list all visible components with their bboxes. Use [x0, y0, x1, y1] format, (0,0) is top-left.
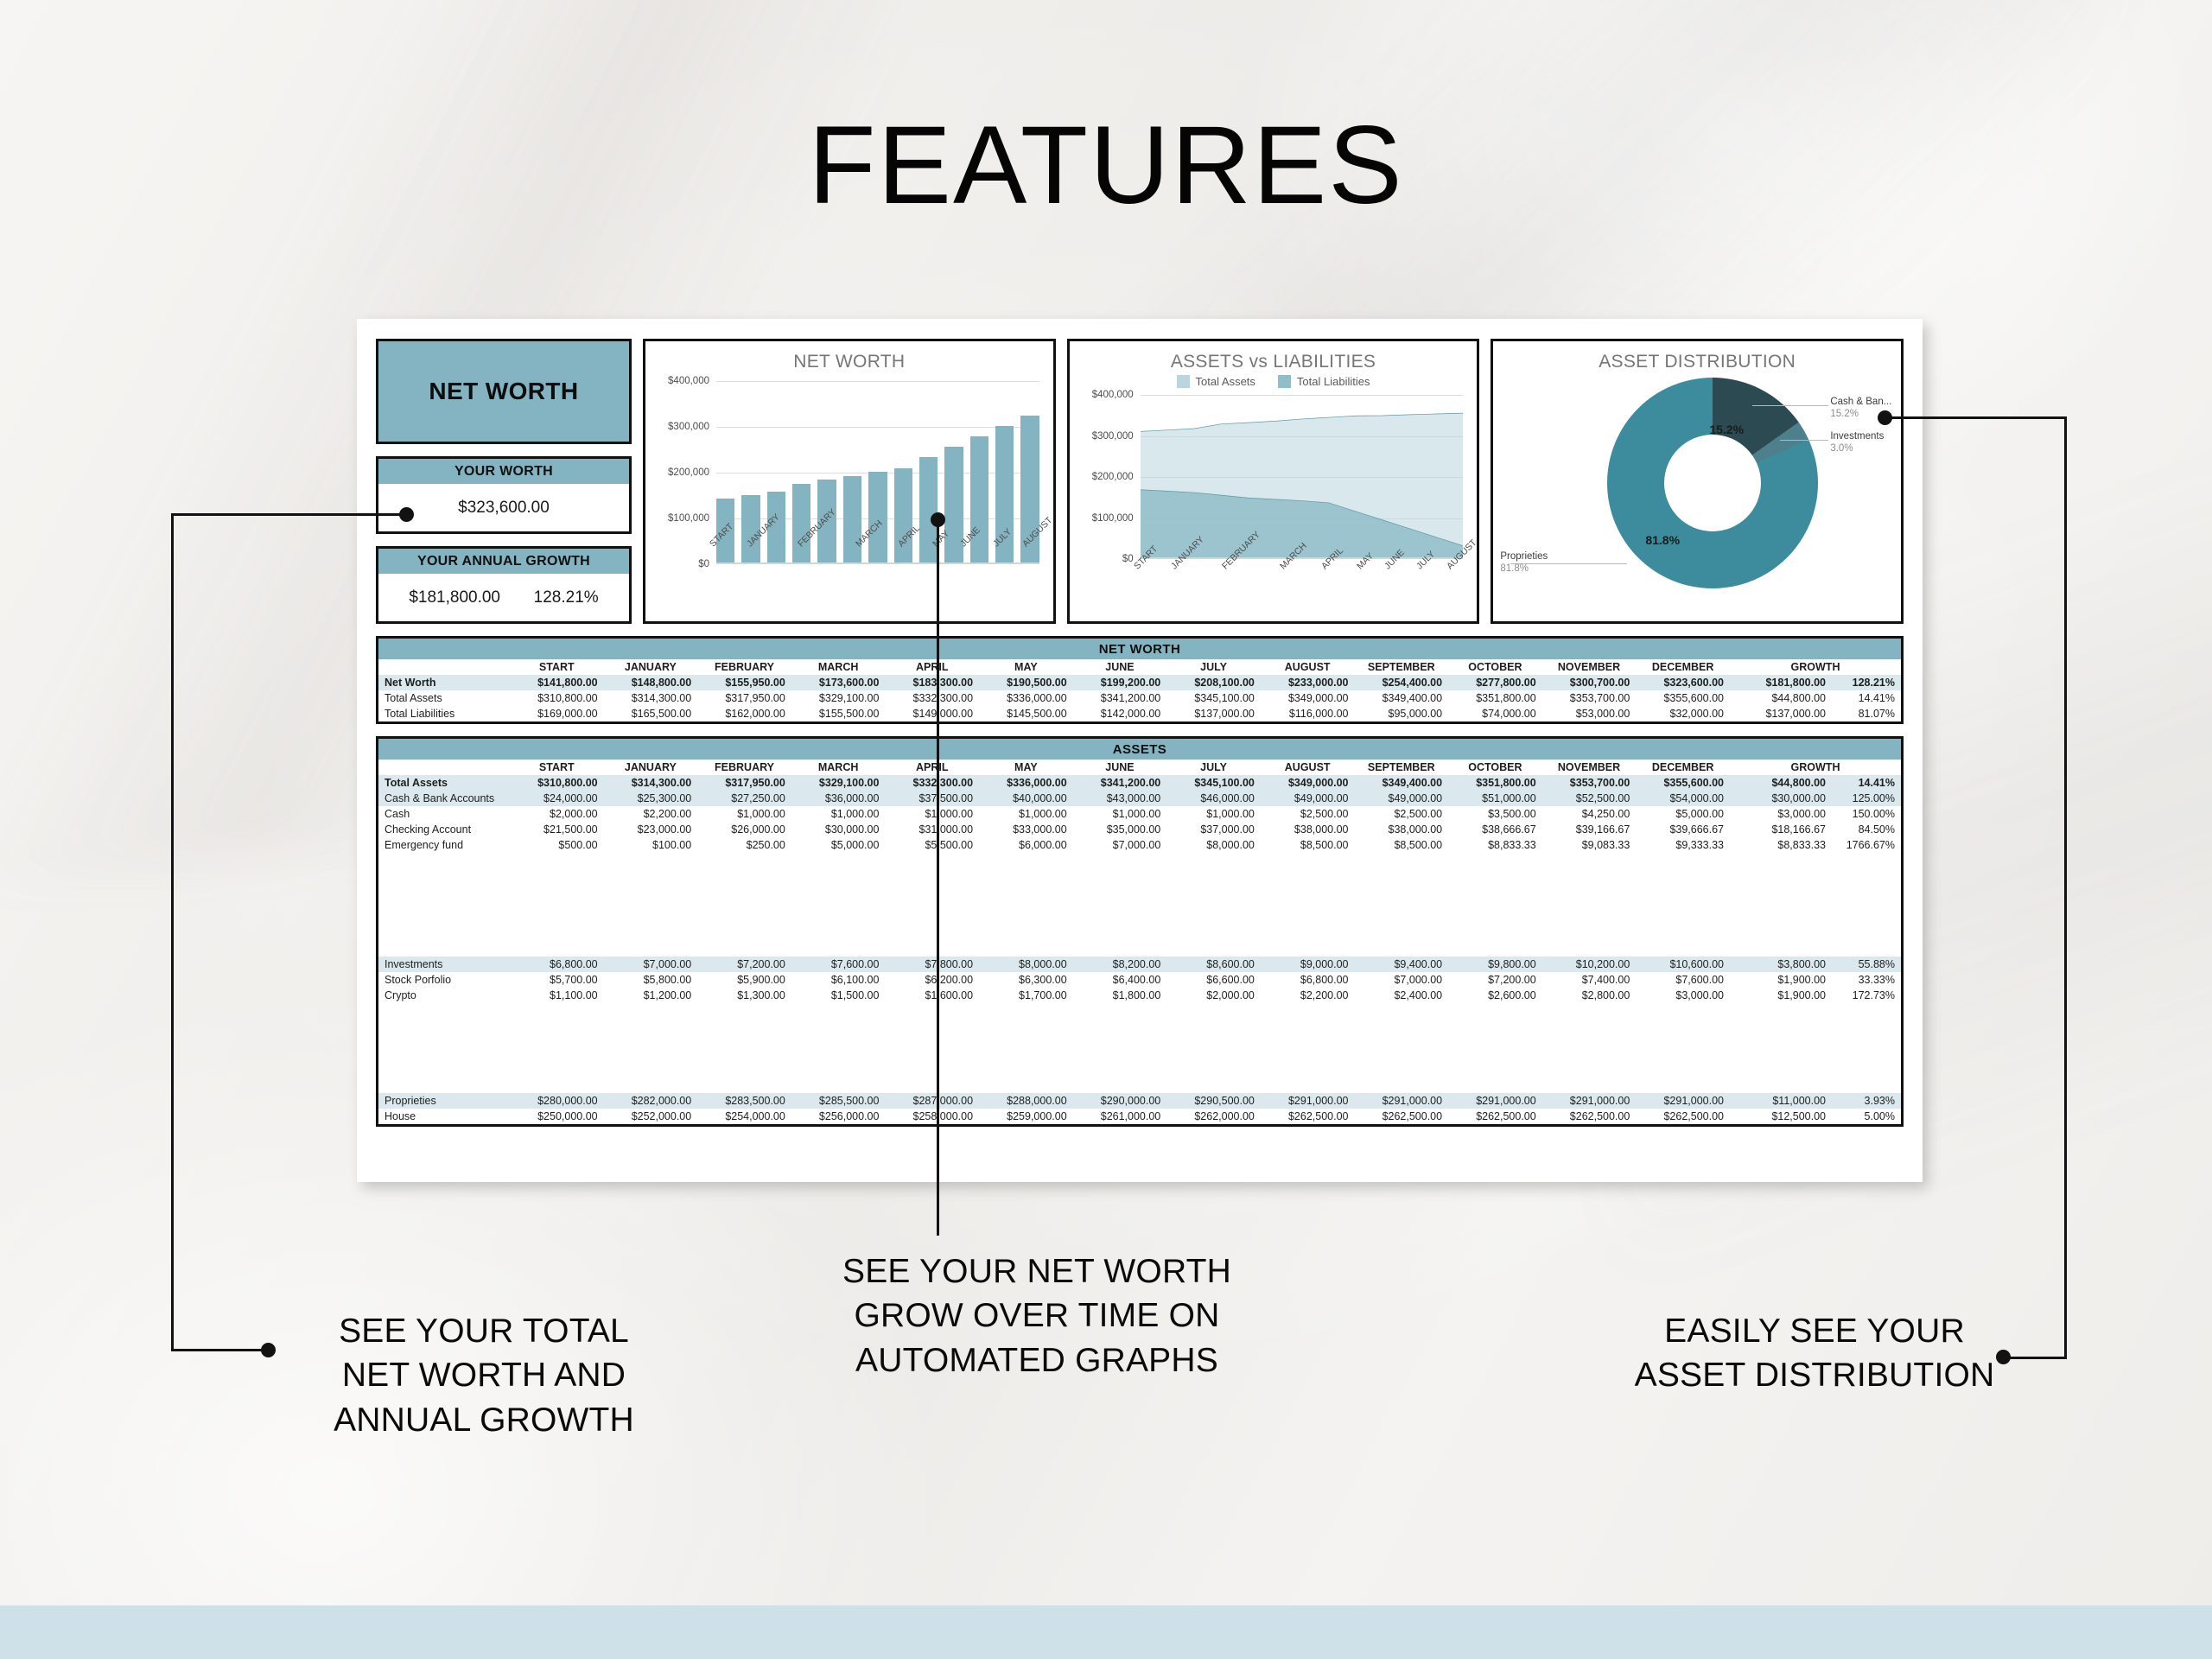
table-cell: $199,200.00	[1073, 675, 1167, 690]
table-cell: $355,600.00	[1636, 775, 1730, 791]
table-cell: $52,500.00	[1542, 791, 1637, 806]
kpi-annual-growth-percent: 128.21%	[534, 588, 599, 607]
donut-hole	[1664, 435, 1761, 531]
table-cell: $7,000.00	[1354, 972, 1448, 988]
table-cell: $262,500.00	[1261, 1109, 1355, 1124]
table-cell: $7,800.00	[885, 957, 979, 972]
row-label: Total Assets	[378, 775, 510, 791]
column-header: APRIL	[885, 760, 979, 775]
table-cell: $33,000.00	[979, 822, 1073, 837]
table-cell: $183,300.00	[885, 675, 979, 690]
kpi-net-worth-title: NET WORTH	[376, 339, 632, 444]
column-header: SEPTEMBER	[1354, 659, 1448, 675]
table-assets: ASSETS STARTJANUARYFEBRUARYMARCHAPRILMAY…	[376, 736, 1904, 1127]
table-cell: $277,800.00	[1448, 675, 1542, 690]
table-cell: $5,000.00	[1636, 806, 1730, 822]
table-cell: $2,500.00	[1354, 806, 1448, 822]
chart-panel-asset-distribution: ASSET DISTRIBUTION 15.2% 81.8% Cash & Ba…	[1491, 339, 1904, 624]
table-cell: $349,400.00	[1354, 775, 1448, 791]
legend-label: Total Assets	[1196, 375, 1255, 388]
table-cell: $7,600.00	[1636, 972, 1730, 988]
annotation-line: EASILY SEE YOUR	[1555, 1309, 2074, 1353]
growth-value-cell: $3,800.00	[1730, 957, 1832, 972]
table-cell: $190,500.00	[979, 675, 1073, 690]
table-cell: $283,500.00	[697, 1093, 791, 1109]
column-header	[378, 760, 510, 775]
table-cell: $2,000.00	[510, 806, 604, 822]
growth-percent-cell: 84.50%	[1832, 822, 1901, 837]
table-cell: $336,000.00	[979, 690, 1073, 706]
table-cell: $38,000.00	[1261, 822, 1355, 837]
table-cell: $32,000.00	[1636, 706, 1730, 721]
donut-callout-investments-label: Investments	[1830, 430, 1884, 442]
table-cell: $49,000.00	[1261, 791, 1355, 806]
growth-value-cell: $44,800.00	[1730, 775, 1832, 791]
table-cell: $341,200.00	[1073, 775, 1167, 791]
column-header-growth: GROWTH	[1730, 760, 1901, 775]
table-cell: $116,000.00	[1261, 706, 1355, 721]
growth-value-cell: $11,000.00	[1730, 1093, 1832, 1109]
table-row: Stock Porfolio$5,700.00$5,800.00$5,900.0…	[378, 972, 1901, 988]
annotation-line: NET WORTH AND	[259, 1353, 709, 1397]
table-cell: $5,700.00	[510, 972, 604, 988]
net-worth-y-axis: $0$100,000$200,000$300,000$400,000	[656, 381, 713, 564]
table-row: Cash$2,000.00$2,200.00$1,000.00$1,000.00…	[378, 806, 1901, 822]
column-header: MARCH	[791, 760, 886, 775]
table-net-worth-grid: STARTJANUARYFEBRUARYMARCHAPRILMAYJUNEJUL…	[378, 659, 1901, 721]
table-cell: $40,000.00	[979, 791, 1073, 806]
column-header: APRIL	[885, 659, 979, 675]
column-header: OCTOBER	[1448, 659, 1542, 675]
table-cell: $8,500.00	[1354, 837, 1448, 853]
table-cell: $8,500.00	[1261, 837, 1355, 853]
connector-left-horizontal-top	[171, 513, 406, 516]
y-tick-label: $0	[698, 559, 709, 569]
table-cell: $141,800.00	[510, 675, 604, 690]
table-cell: $169,000.00	[510, 706, 604, 721]
annotation-line: GROW OVER TIME ON	[778, 1294, 1296, 1338]
table-cell: $1,800.00	[1073, 988, 1167, 1003]
table-cell: $49,000.00	[1354, 791, 1448, 806]
table-cell: $345,100.00	[1166, 775, 1261, 791]
column-header: NOVEMBER	[1542, 659, 1637, 675]
table-cell: $262,500.00	[1354, 1109, 1448, 1124]
table-cell: $317,950.00	[697, 775, 791, 791]
table-row: House$250,000.00$252,000.00$254,000.00$2…	[378, 1109, 1901, 1124]
table-cell: $233,000.00	[1261, 675, 1355, 690]
table-cell: $287,000.00	[885, 1093, 979, 1109]
table-cell: $142,000.00	[1073, 706, 1167, 721]
annotation-line: SEE YOUR NET WORTH	[778, 1249, 1296, 1294]
donut-callout-investments-value: 3.0%	[1830, 442, 1884, 454]
column-header: JANUARY	[604, 760, 698, 775]
table-cell: $74,000.00	[1448, 706, 1542, 721]
kpi-your-worth-value: $323,600.00	[378, 484, 629, 531]
dashboard-screenshot: NET WORTH YOUR WORTH $323,600.00 YOUR AN…	[357, 319, 1923, 1182]
table-cell: $51,000.00	[1448, 791, 1542, 806]
table-cell: $288,000.00	[979, 1093, 1073, 1109]
table-cell: $351,800.00	[1448, 775, 1542, 791]
table-cell: $27,250.00	[697, 791, 791, 806]
growth-value-cell: $30,000.00	[1730, 791, 1832, 806]
table-cell: $24,000.00	[510, 791, 604, 806]
table-cell: $1,000.00	[697, 806, 791, 822]
table-cell: $145,500.00	[979, 706, 1073, 721]
annotation-line: ANNUAL GROWTH	[259, 1398, 709, 1442]
y-tick-label: $100,000	[668, 513, 709, 524]
chart-title-asset-distribution: ASSET DISTRIBUTION	[1493, 341, 1901, 372]
growth-value-cell: $3,000.00	[1730, 806, 1832, 822]
row-label: Cash	[378, 806, 510, 822]
table-row: Total Assets$310,800.00$314,300.00$317,9…	[378, 690, 1901, 706]
table-cell: $38,666.67	[1448, 822, 1542, 837]
chart-panel-assets-liabilities: ASSETS vs LIABILITIES Total AssetsTotal …	[1067, 339, 1480, 624]
chart-title-assets-liabilities: ASSETS vs LIABILITIES	[1070, 341, 1478, 372]
table-cell: $1,500.00	[791, 988, 886, 1003]
table-cell: $9,800.00	[1448, 957, 1542, 972]
table-cell: $6,800.00	[1261, 972, 1355, 988]
kpi-annual-growth-label: YOUR ANNUAL GROWTH	[378, 549, 629, 574]
connector-center-vertical	[937, 518, 939, 1236]
kpi-card-your-worth: YOUR WORTH $323,600.00	[376, 456, 632, 534]
growth-percent-cell: 128.21%	[1832, 675, 1901, 690]
table-cell: $329,100.00	[791, 775, 886, 791]
table-cell: $2,200.00	[1261, 988, 1355, 1003]
footer-bar	[0, 1605, 2212, 1659]
row-label: Total Liabilities	[378, 706, 510, 721]
kpi-column: NET WORTH YOUR WORTH $323,600.00 YOUR AN…	[376, 339, 632, 624]
table-cell: $345,100.00	[1166, 690, 1261, 706]
column-header: DECEMBER	[1636, 760, 1730, 775]
table-cell: $3,500.00	[1448, 806, 1542, 822]
kpi-card-annual-growth: YOUR ANNUAL GROWTH $181,800.00 128.21%	[376, 546, 632, 624]
table-row: Cash & Bank Accounts$24,000.00$25,300.00…	[378, 791, 1901, 806]
growth-value-cell: $181,800.00	[1730, 675, 1832, 690]
table-assets-title: ASSETS	[378, 739, 1901, 760]
growth-percent-cell: 150.00%	[1832, 806, 1901, 822]
row-label: Crypto	[378, 988, 510, 1003]
column-header: AUGUST	[1261, 760, 1355, 775]
annotation-line: SEE YOUR TOTAL	[259, 1309, 709, 1353]
table-cell: $8,000.00	[979, 957, 1073, 972]
plot-grid	[716, 381, 1039, 564]
table-cell: $6,300.00	[979, 972, 1073, 988]
table-cell: $332,300.00	[885, 775, 979, 791]
table-cell: $137,000.00	[1166, 706, 1261, 721]
kpi-annual-growth-value: $181,800.00	[409, 588, 500, 607]
table-cell: $349,000.00	[1261, 775, 1355, 791]
table-cell: $291,000.00	[1542, 1093, 1637, 1109]
table-cell: $258,000.00	[885, 1109, 979, 1124]
donut-inner-label-cash: 15.2%	[1709, 423, 1744, 436]
table-cell: $2,400.00	[1354, 988, 1448, 1003]
asset-distribution-donut-wrap: 15.2% 81.8% Cash & Ban... 15.2% Investme…	[1493, 372, 1901, 599]
table-row: Total Assets$310,800.00$314,300.00$317,9…	[378, 775, 1901, 791]
table-cell: $26,000.00	[697, 822, 791, 837]
row-label: Checking Account	[378, 822, 510, 837]
column-header: OCTOBER	[1448, 760, 1542, 775]
table-cell: $341,200.00	[1073, 690, 1167, 706]
table-cell: $256,000.00	[791, 1109, 886, 1124]
table-cell: $7,400.00	[1542, 972, 1637, 988]
column-header: FEBRUARY	[697, 659, 791, 675]
growth-value-cell: $18,166.67	[1730, 822, 1832, 837]
table-cell: $1,700.00	[979, 988, 1073, 1003]
table-cell: $9,333.33	[1636, 837, 1730, 853]
column-header: JULY	[1166, 760, 1261, 775]
kpi-your-worth-label: YOUR WORTH	[378, 459, 629, 484]
column-header: JUNE	[1073, 659, 1167, 675]
connector-left-horizontal-bottom	[171, 1349, 268, 1351]
table-cell: $254,400.00	[1354, 675, 1448, 690]
table-cell: $2,500.00	[1261, 806, 1355, 822]
table-cell: $329,100.00	[791, 690, 886, 706]
table-cell: $349,000.00	[1261, 690, 1355, 706]
table-cell: $291,000.00	[1354, 1093, 1448, 1109]
table-cell: $280,000.00	[510, 1093, 604, 1109]
table-cell: $7,000.00	[604, 957, 698, 972]
row-label: Stock Porfolio	[378, 972, 510, 988]
donut-callout-investments: Investments 3.0%	[1830, 430, 1884, 455]
table-cell: $10,600.00	[1636, 957, 1730, 972]
table-cell: $2,000.00	[1166, 988, 1261, 1003]
table-cell: $9,000.00	[1261, 957, 1355, 972]
y-tick-label: $200,000	[1092, 472, 1134, 482]
table-cell: $21,500.00	[510, 822, 604, 837]
table-cell: $46,000.00	[1166, 791, 1261, 806]
table-cell: $1,000.00	[791, 806, 886, 822]
table-cell: $290,500.00	[1166, 1093, 1261, 1109]
table-cell: $1,000.00	[885, 806, 979, 822]
growth-percent-cell: 33.33%	[1832, 972, 1901, 988]
table-spacer-row	[378, 853, 1901, 957]
page-title: FEATURES	[0, 102, 2212, 229]
table-cell: $290,000.00	[1073, 1093, 1167, 1109]
table-cell: $35,000.00	[1073, 822, 1167, 837]
column-header-growth: GROWTH	[1730, 659, 1901, 675]
table-cell: $291,000.00	[1636, 1093, 1730, 1109]
table-spacer-cell	[378, 853, 1901, 957]
table-row: Investments$6,800.00$7,000.00$7,200.00$7…	[378, 957, 1901, 972]
table-spacer-row	[378, 1003, 1901, 1093]
table-cell: $500.00	[510, 837, 604, 853]
column-header: MAY	[979, 659, 1073, 675]
table-cell: $6,000.00	[979, 837, 1073, 853]
table-cell: $2,800.00	[1542, 988, 1637, 1003]
table-cell: $38,000.00	[1354, 822, 1448, 837]
net-worth-x-axis: STARTJANUARYFEBRUARYMARCHAPRILMAYJUNEJUL…	[706, 542, 1050, 552]
donut-leader-investments	[1780, 440, 1828, 441]
table-cell: $8,833.33	[1448, 837, 1542, 853]
column-header: AUGUST	[1261, 659, 1355, 675]
table-cell: $6,200.00	[885, 972, 979, 988]
table-cell: $323,600.00	[1636, 675, 1730, 690]
y-tick-label: $100,000	[1092, 513, 1134, 524]
table-cell: $1,600.00	[885, 988, 979, 1003]
table-cell: $8,200.00	[1073, 957, 1167, 972]
table-cell: $5,500.00	[885, 837, 979, 853]
connector-center-dot-source	[931, 512, 945, 527]
table-row: Crypto$1,100.00$1,200.00$1,300.00$1,500.…	[378, 988, 1901, 1003]
table-cell: $310,800.00	[510, 690, 604, 706]
column-header: START	[510, 760, 604, 775]
table-row: Checking Account$21,500.00$23,000.00$26,…	[378, 822, 1901, 837]
table-cell: $149,000.00	[885, 706, 979, 721]
table-cell: $54,000.00	[1636, 791, 1730, 806]
y-tick-label: $200,000	[668, 467, 709, 478]
connector-right-horizontal-top	[1884, 416, 2067, 419]
area-series	[1141, 395, 1464, 559]
growth-value-cell: $1,900.00	[1730, 972, 1832, 988]
row-label: Total Assets	[378, 690, 510, 706]
table-cell: $6,800.00	[510, 957, 604, 972]
table-cell: $53,000.00	[1542, 706, 1637, 721]
table-cell: $291,000.00	[1448, 1093, 1542, 1109]
row-label: Proprieties	[378, 1093, 510, 1109]
table-net-worth: NET WORTH STARTJANUARYFEBRUARYMARCHAPRIL…	[376, 636, 1904, 724]
table-cell: $10,200.00	[1542, 957, 1637, 972]
table-cell: $262,500.00	[1636, 1109, 1730, 1124]
table-cell: $1,100.00	[510, 988, 604, 1003]
table-assets-grid: STARTJANUARYFEBRUARYMARCHAPRILMAYJUNEJUL…	[378, 760, 1901, 1124]
row-label: Cash & Bank Accounts	[378, 791, 510, 806]
legend-item: Total Assets	[1177, 375, 1255, 388]
row-label: Investments	[378, 957, 510, 972]
table-net-worth-header-row: STARTJANUARYFEBRUARYMARCHAPRILMAYJUNEJUL…	[378, 659, 1901, 675]
annotation-center: SEE YOUR NET WORTHGROW OVER TIME ONAUTOM…	[778, 1249, 1296, 1382]
table-cell: $351,800.00	[1448, 690, 1542, 706]
table-cell: $5,000.00	[791, 837, 886, 853]
table-cell: $336,000.00	[979, 775, 1073, 791]
assets-liabilities-x-axis: STARTJANUARYFEBRUARYMARCHAPRILMAYJUNEJUL…	[1130, 564, 1474, 575]
column-header: START	[510, 659, 604, 675]
table-cell: $100.00	[604, 837, 698, 853]
table-cell: $37,000.00	[1166, 822, 1261, 837]
column-header: MARCH	[791, 659, 886, 675]
plot-grid	[1141, 395, 1464, 559]
column-header: FEBRUARY	[697, 760, 791, 775]
table-cell: $314,300.00	[604, 690, 698, 706]
growth-percent-cell: 55.88%	[1832, 957, 1901, 972]
donut-inner-label-proprieties: 81.8%	[1645, 533, 1680, 547]
table-cell: $1,000.00	[1166, 806, 1261, 822]
table-cell: $259,000.00	[979, 1109, 1073, 1124]
table-cell: $39,166.67	[1542, 822, 1637, 837]
table-cell: $155,500.00	[791, 706, 886, 721]
table-cell: $250,000.00	[510, 1109, 604, 1124]
legend-item: Total Liabilities	[1278, 375, 1370, 388]
connector-right-vertical	[2064, 416, 2067, 1358]
table-row: Emergency fund$500.00$100.00$250.00$5,00…	[378, 837, 1901, 853]
column-header: MAY	[979, 760, 1073, 775]
table-cell: $6,600.00	[1166, 972, 1261, 988]
annotation-right: EASILY SEE YOURASSET DISTRIBUTION	[1555, 1309, 2074, 1398]
table-cell: $2,200.00	[604, 806, 698, 822]
table-cell: $165,500.00	[604, 706, 698, 721]
table-cell: $282,000.00	[604, 1093, 698, 1109]
chart-legend-assets-liabilities: Total AssetsTotal Liabilities	[1070, 375, 1478, 388]
table-cell: $5,800.00	[604, 972, 698, 988]
assets-liabilities-area-plot: $0$100,000$200,000$300,000$400,000	[1080, 395, 1467, 559]
y-tick-label: $400,000	[1092, 390, 1134, 400]
table-cell: $2,600.00	[1448, 988, 1542, 1003]
y-tick-label: $0	[1122, 554, 1134, 564]
table-row: Net Worth$141,800.00$148,800.00$155,950.…	[378, 675, 1901, 690]
x-axis-line	[716, 563, 1039, 564]
table-cell: $8,600.00	[1166, 957, 1261, 972]
table-cell: $7,600.00	[791, 957, 886, 972]
growth-value-cell: $137,000.00	[1730, 706, 1832, 721]
table-cell: $36,000.00	[791, 791, 886, 806]
annotation-left: SEE YOUR TOTALNET WORTH ANDANNUAL GROWTH	[259, 1309, 709, 1442]
growth-value-cell: $1,900.00	[1730, 988, 1832, 1003]
growth-value-cell: $44,800.00	[1730, 690, 1832, 706]
growth-percent-cell: 125.00%	[1832, 791, 1901, 806]
table-cell: $262,500.00	[1448, 1109, 1542, 1124]
table-cell: $252,000.00	[604, 1109, 698, 1124]
table-cell: $7,200.00	[1448, 972, 1542, 988]
table-cell: $43,000.00	[1073, 791, 1167, 806]
connector-left-vertical	[171, 513, 174, 1351]
asset-distribution-donut	[1607, 378, 1818, 588]
table-cell: $23,000.00	[604, 822, 698, 837]
row-label: Net Worth	[378, 675, 510, 690]
table-cell: $353,700.00	[1542, 690, 1637, 706]
table-cell: $1,200.00	[604, 988, 698, 1003]
donut-callout-proprieties: Proprieties 81.8%	[1500, 550, 1548, 575]
y-tick-label: $300,000	[1092, 431, 1134, 442]
table-cell: $6,100.00	[791, 972, 886, 988]
legend-swatch	[1177, 375, 1190, 388]
table-cell: $8,000.00	[1166, 837, 1261, 853]
y-tick-label: $300,000	[668, 422, 709, 432]
table-cell: $250.00	[697, 837, 791, 853]
table-cell: $1,000.00	[979, 806, 1073, 822]
table-cell: $208,100.00	[1166, 675, 1261, 690]
growth-percent-cell: 5.00%	[1832, 1109, 1901, 1124]
donut-callout-proprieties-label: Proprieties	[1500, 550, 1548, 563]
column-header: NOVEMBER	[1542, 760, 1637, 775]
kpi-annual-growth-body: $181,800.00 128.21%	[378, 574, 629, 621]
table-cell: $95,000.00	[1354, 706, 1448, 721]
column-header: DECEMBER	[1636, 659, 1730, 675]
table-cell: $25,300.00	[604, 791, 698, 806]
table-cell: $31,000.00	[885, 822, 979, 837]
table-cell: $285,500.00	[791, 1093, 886, 1109]
table-cell: $349,400.00	[1354, 690, 1448, 706]
assets-liabilities-y-axis: $0$100,000$200,000$300,000$400,000	[1080, 395, 1137, 559]
column-header: JULY	[1166, 659, 1261, 675]
table-spacer-cell	[378, 1003, 1901, 1093]
chart-panel-net-worth: NET WORTH $0$100,000$200,000$300,000$400…	[643, 339, 1056, 624]
growth-percent-cell: 14.41%	[1832, 690, 1901, 706]
table-cell: $254,000.00	[697, 1109, 791, 1124]
table-cell: $5,900.00	[697, 972, 791, 988]
table-cell: $155,950.00	[697, 675, 791, 690]
table-net-worth-title: NET WORTH	[378, 639, 1901, 659]
table-cell: $9,400.00	[1354, 957, 1448, 972]
table-cell: $173,600.00	[791, 675, 886, 690]
table-cell: $310,800.00	[510, 775, 604, 791]
growth-percent-cell: 172.73%	[1832, 988, 1901, 1003]
table-cell: $317,950.00	[697, 690, 791, 706]
table-cell: $37,500.00	[885, 791, 979, 806]
table-cell: $262,500.00	[1542, 1109, 1637, 1124]
annotation-line: ASSET DISTRIBUTION	[1555, 1353, 2074, 1397]
table-cell: $355,600.00	[1636, 690, 1730, 706]
donut-callout-proprieties-value: 81.8%	[1500, 563, 1548, 575]
table-cell: $291,000.00	[1261, 1093, 1355, 1109]
